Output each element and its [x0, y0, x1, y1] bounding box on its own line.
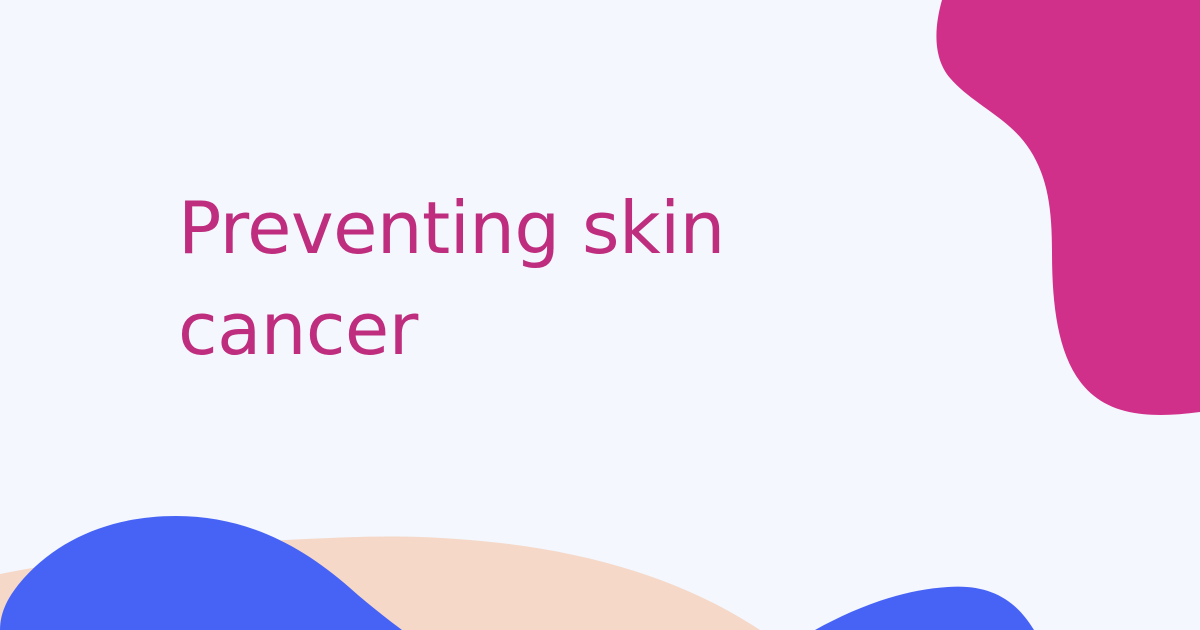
page-title: Preventing skin cancer	[178, 178, 798, 380]
blue-blob-left-shape	[0, 516, 402, 630]
pink-blob-shape	[936, 0, 1200, 415]
poster-canvas: Preventing skin cancer	[0, 0, 1200, 630]
peach-blob-shape	[0, 537, 760, 630]
blue-blob-right-shape	[815, 587, 1034, 630]
